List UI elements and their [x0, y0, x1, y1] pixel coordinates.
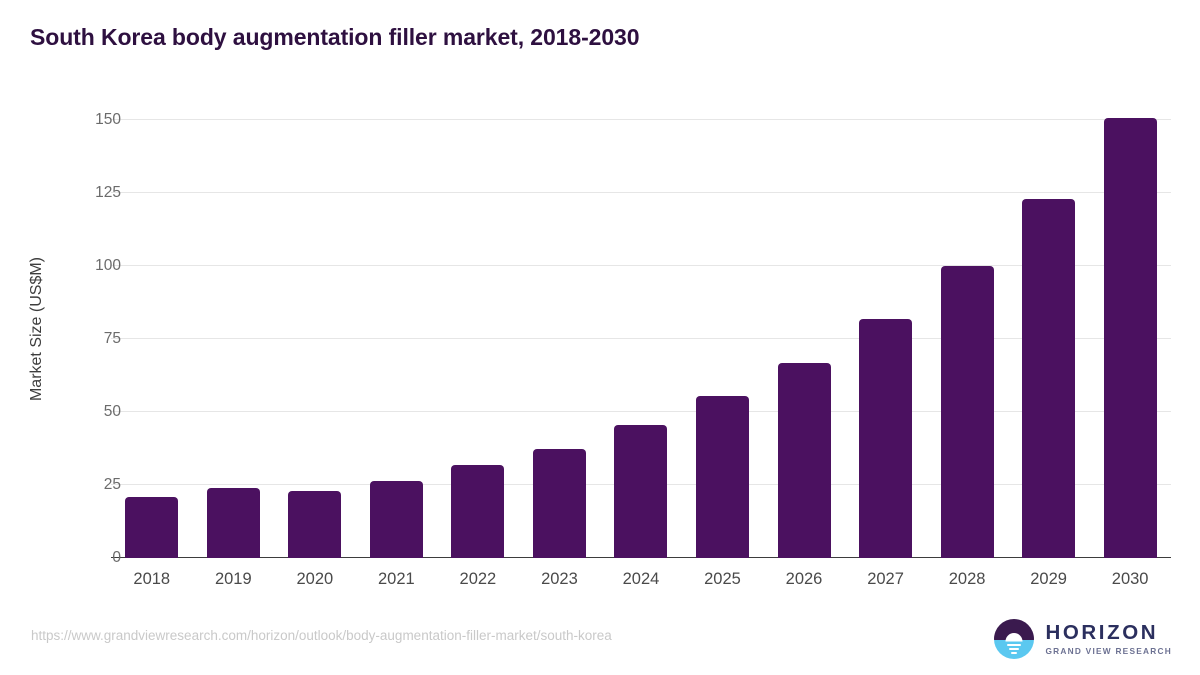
- bar-slot: [519, 100, 601, 558]
- bar-slot: [1089, 100, 1171, 558]
- x-tick-label: 2021: [356, 562, 438, 589]
- x-tick-label: 2018: [111, 562, 193, 589]
- bar-slot: [1008, 100, 1090, 558]
- bar-2018[interactable]: [125, 497, 178, 558]
- x-tick-label: 2019: [193, 562, 275, 589]
- bar-2025[interactable]: [696, 396, 749, 558]
- bar-2021[interactable]: [370, 481, 423, 558]
- bar-2019[interactable]: [207, 488, 260, 558]
- x-tick-label: 2023: [519, 562, 601, 589]
- bar-2022[interactable]: [451, 465, 504, 558]
- x-tick-label: 2028: [926, 562, 1008, 589]
- x-tick-label: 2026: [763, 562, 845, 589]
- bar-2027[interactable]: [859, 319, 912, 558]
- bar-slot: [600, 100, 682, 558]
- bar-slot: [193, 100, 275, 558]
- bar-2028[interactable]: [941, 266, 994, 558]
- x-tick-label: 2025: [682, 562, 764, 589]
- x-tick-label: 2030: [1089, 562, 1171, 589]
- bar-slot: [111, 100, 193, 558]
- bar-2026[interactable]: [778, 363, 831, 558]
- bar-slot: [437, 100, 519, 558]
- x-tick-label: 2020: [274, 562, 356, 589]
- x-tick-label: 2029: [1008, 562, 1090, 589]
- bar-slot: [274, 100, 356, 558]
- page-title: South Korea body augmentation filler mar…: [30, 24, 639, 51]
- bar-series: [111, 100, 1171, 558]
- logo-subtitle: GRAND VIEW RESEARCH: [1045, 647, 1172, 655]
- bar-2023[interactable]: [533, 449, 586, 558]
- x-tick-label: 2024: [600, 562, 682, 589]
- bar-2030[interactable]: [1104, 118, 1157, 558]
- bar-slot: [356, 100, 438, 558]
- logo-wordmark: HORIZON: [1045, 623, 1172, 644]
- chart-page: South Korea body augmentation filler mar…: [0, 0, 1200, 675]
- x-axis-labels: 2018201920202021202220232024202520262027…: [111, 562, 1171, 589]
- bar-2020[interactable]: [288, 491, 341, 558]
- bar-2029[interactable]: [1022, 199, 1075, 558]
- plot-area: 0255075100125150: [111, 100, 1171, 558]
- horizon-logo-icon: [992, 617, 1036, 661]
- bar-slot: [845, 100, 927, 558]
- y-axis-title-label: Market Size (US$M): [28, 257, 46, 401]
- source-url: https://www.grandviewresearch.com/horizo…: [31, 628, 612, 643]
- horizon-logo: HORIZON GRAND VIEW RESEARCH: [992, 617, 1172, 661]
- bar-slot: [763, 100, 845, 558]
- horizon-logo-text: HORIZON GRAND VIEW RESEARCH: [1045, 623, 1172, 656]
- bar-slot: [926, 100, 1008, 558]
- bar-2024[interactable]: [614, 425, 667, 558]
- x-tick-label: 2022: [437, 562, 519, 589]
- x-tick-label: 2027: [845, 562, 927, 589]
- bar-slot: [682, 100, 764, 558]
- y-axis-title: Market Size (US$M): [26, 100, 48, 558]
